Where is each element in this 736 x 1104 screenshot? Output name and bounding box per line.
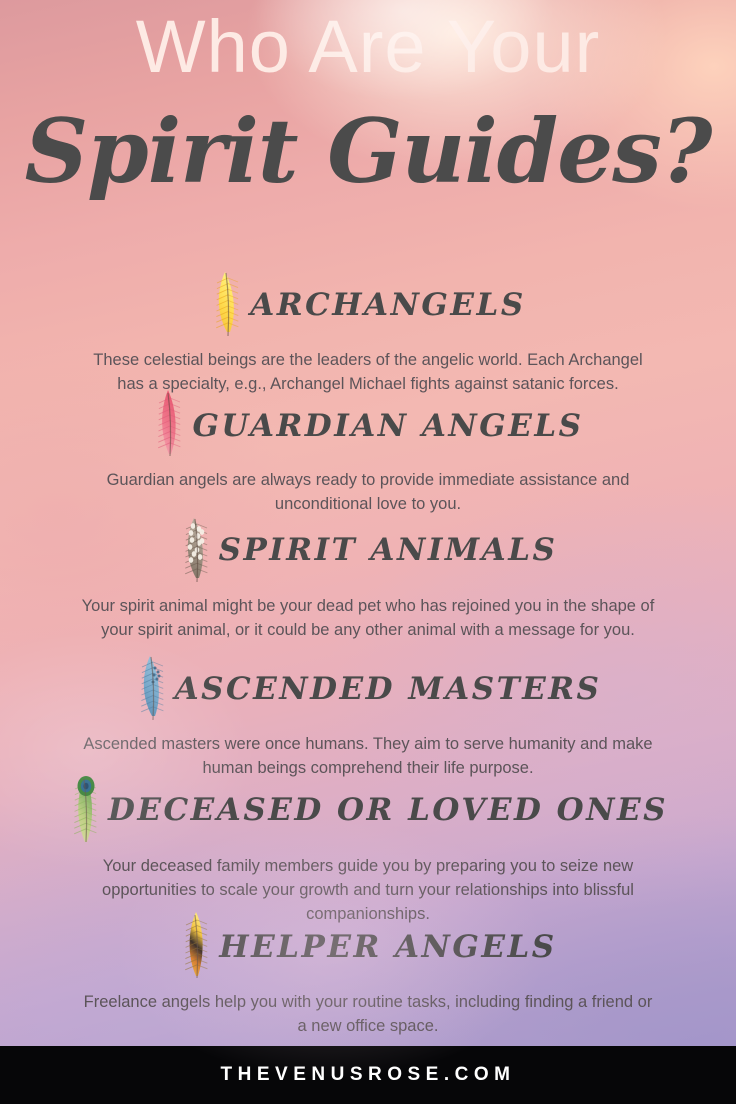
poster-title-block: Who Are Your Spirit Guides? <box>0 10 736 201</box>
guide-section-heading-row: HELPER ANGELS <box>0 910 736 984</box>
gold-black-feather-icon <box>179 904 215 984</box>
yellow-feather-icon <box>210 262 246 342</box>
peacock-feather-icon <box>68 768 104 848</box>
guide-section-heading-row: DECEASED OR LOVED ONES <box>0 772 736 848</box>
guide-section-heading-row: ASCENDED MASTERS <box>0 652 736 726</box>
guide-section: ARCHANGELSThese celestial beings are the… <box>0 268 736 397</box>
website-url: THEVENUSROSE.COM <box>221 1064 516 1086</box>
guide-section-title: SPIRIT ANIMALS <box>219 535 558 566</box>
guide-section: HELPER ANGELSFreelance angels help you w… <box>0 910 736 1039</box>
guide-section-title: ARCHANGELS <box>250 290 525 321</box>
guide-section-heading-row: ARCHANGELS <box>0 268 736 342</box>
guide-section: SPIRIT ANIMALSYour spirit animal might b… <box>0 512 736 643</box>
guide-section-heading-row: GUARDIAN ANGELS <box>0 390 736 462</box>
guide-section-title: DECEASED OR LOVED ONES <box>108 795 668 826</box>
guide-section-description: Guardian angels are always ready to prov… <box>78 469 658 517</box>
poster-title-line-1: Who Are Your <box>0 10 736 84</box>
guide-section-description: Your spirit animal might be your dead pe… <box>68 595 668 643</box>
guide-section-description: Freelance angels help you with your rout… <box>78 991 658 1039</box>
footer-bar: THEVENUSROSE.COM <box>0 1046 736 1104</box>
guide-section: DECEASED OR LOVED ONESYour deceased fami… <box>0 772 736 926</box>
poster-title-line-2: Spirit Guides? <box>0 102 736 201</box>
guide-section: GUARDIAN ANGELSGuardian angels are alway… <box>0 390 736 517</box>
pink-feather-icon <box>152 382 188 462</box>
guide-section: ASCENDED MASTERSAscended masters were on… <box>0 652 736 781</box>
speckled-feather-icon <box>179 508 215 588</box>
guide-section-title: HELPER ANGELS <box>219 932 556 963</box>
guide-section-heading-row: SPIRIT ANIMALS <box>0 512 736 588</box>
guide-section-title: GUARDIAN ANGELS <box>192 411 583 442</box>
guide-section-title: ASCENDED MASTERS <box>175 674 602 705</box>
infographic-poster: Who Are Your Spirit Guides? ARCHANGELSTh… <box>0 0 736 1104</box>
blue-feather-icon <box>135 646 171 726</box>
